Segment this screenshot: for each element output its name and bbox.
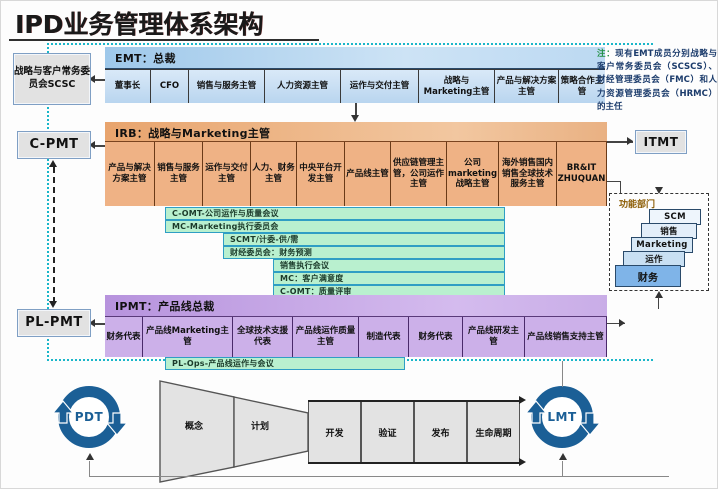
- emt-role-cell[interactable]: 人力资源主管: [265, 70, 341, 103]
- dept-card[interactable]: 财务: [615, 265, 681, 287]
- connector-irb-down-stub: [620, 181, 621, 193]
- lmt-recycle-icon: [520, 379, 606, 457]
- irb-role-cell[interactable]: BR&IT ZHUQUAN: [557, 142, 607, 206]
- lifecycle-rail-top: [308, 400, 520, 402]
- arrowhead-func-in: [655, 187, 663, 194]
- committee-bar[interactable]: C-OMT-公司运作与质量会议: [165, 207, 505, 220]
- emt-header-label: EMT：总裁: [105, 47, 605, 66]
- ipmt-role-cell[interactable]: 产品线运作质量主管: [293, 317, 359, 357]
- ipmt-role-cell[interactable]: 财务代表: [409, 317, 463, 357]
- emt-role-cell[interactable]: 董事长: [105, 70, 151, 103]
- arrowhead-rail-bottom: [519, 458, 526, 466]
- ipmt-header-label: IPMT：产品线总裁: [105, 295, 607, 314]
- ipmt-role-cell[interactable]: 财务代表: [105, 317, 143, 357]
- phase-label[interactable]: 概念: [163, 419, 225, 432]
- arrowhead-irb: [351, 115, 359, 122]
- committee-bar[interactable]: SCMT/计委-供/需: [223, 233, 505, 246]
- arrowhead-cpmt-up: [49, 160, 57, 167]
- irb-role-cell[interactable]: 产品与解决方案主管: [105, 142, 155, 206]
- ipmt-role-cell[interactable]: 产品线Marketing主管: [143, 317, 233, 357]
- ipmt-role-row: 财务代表 产品线Marketing主管 全球技术支援代表 产品线运作质量主管 制…: [105, 317, 607, 357]
- arrowhead-plpmt-down: [49, 301, 57, 308]
- c-pmt-label[interactable]: C-PMT: [17, 131, 91, 159]
- emt-role-row: 董事长 CFO 销售与服务主管 人力资源主管 运作与交付主管 战略与Market…: [105, 69, 605, 103]
- ipmt-role-cell[interactable]: 全球技术支援代表: [233, 317, 293, 357]
- phase-box[interactable]: 发布: [414, 401, 467, 463]
- feedback-right-riser: [562, 461, 563, 477]
- emt-role-cell[interactable]: 战略与Marketing主管: [419, 70, 495, 103]
- irb-role-cell[interactable]: 中央平台开发主管: [297, 142, 345, 206]
- emt-role-cell[interactable]: 运作与交付主管: [341, 70, 419, 103]
- note-text: 现有EMT成员分别战略与客户常务委员会（SCSCS）、财经管理委员会（FMC）和…: [597, 49, 717, 112]
- scsc-label[interactable]: 战略与客户常务委员会SCSC: [13, 53, 91, 105]
- arrowhead-ipmt-right: [619, 319, 625, 327]
- irb-header-label: IRB：战略与Marketing主管: [105, 122, 607, 141]
- irb-role-cell[interactable]: 供应链管理主管，公司运作主管: [391, 142, 447, 206]
- arrowhead-lmt-feedback: [559, 453, 567, 460]
- title-underline: [9, 39, 319, 41]
- arrowhead-rail-top: [519, 396, 526, 404]
- irb-role-cell[interactable]: 海外销售国内销售全球技术服务主管: [499, 142, 557, 206]
- irb-header: IRB：战略与Marketing主管: [105, 122, 607, 142]
- connector-func-down: [658, 297, 659, 309]
- itmt-label[interactable]: ITMT: [635, 130, 687, 154]
- irb-role-cell[interactable]: 公司marketing战略主管: [447, 142, 499, 206]
- diagram-canvas: IPD业务管理体系架构 EMT：总裁 董事长 CFO 销售与服务主管 人力资源主…: [0, 0, 718, 489]
- irb-role-cell[interactable]: 产品线主管: [345, 142, 391, 206]
- irb-role-cell[interactable]: 运作与交付主管: [203, 142, 251, 206]
- note-label: 注：: [597, 49, 615, 59]
- connector-irb-right-stub: [607, 181, 621, 182]
- pl-ops-committee-bar[interactable]: PL-Ops-产品线运作与会议: [165, 357, 405, 370]
- committee-bar[interactable]: 财经委员会：财务预测: [223, 246, 505, 259]
- pl-pmt-label[interactable]: PL-PMT: [17, 309, 91, 337]
- emt-role-cell[interactable]: 产品与解决方案主管: [495, 70, 559, 103]
- irb-role-cell[interactable]: 销售与服务主管: [155, 142, 203, 206]
- pdt-recycle-icon: [47, 379, 133, 457]
- emt-note: 注：现有EMT成员分别战略与客户常务委员会（SCSCS）、财经管理委员会（FMC…: [597, 48, 717, 114]
- lifecycle-rail-bottom: [308, 462, 520, 464]
- emt-role-cell[interactable]: CFO: [151, 70, 189, 103]
- feedback-left-riser: [89, 461, 90, 477]
- ipmt-role-cell[interactable]: 制造代表: [359, 317, 409, 357]
- ipmt-role-cell[interactable]: 产品线销售支持主管: [525, 317, 607, 357]
- committee-bar[interactable]: MC：客户满意度: [273, 272, 505, 285]
- phase-box[interactable]: 验证: [361, 401, 414, 463]
- arrowhead-itmt: [627, 137, 633, 145]
- irb-role-row: 产品与解决方案主管 销售与服务主管 运作与交付主管 人力、财务主管 中央平台开发…: [105, 142, 607, 206]
- phase-label[interactable]: 计划: [229, 419, 291, 432]
- emt-header: EMT：总裁: [105, 47, 605, 69]
- connector-lmt-up: [562, 361, 563, 387]
- emt-role-cell[interactable]: 销售与服务主管: [189, 70, 265, 103]
- committee-bar[interactable]: 销售执行会议: [273, 259, 505, 272]
- phase-box[interactable]: 开发: [308, 401, 361, 463]
- feedback-loop-line: [89, 476, 669, 477]
- ipmt-role-cell[interactable]: 产品线研发主管: [463, 317, 525, 357]
- phase-box[interactable]: 生命周期: [467, 401, 520, 463]
- committee-bar[interactable]: MC-Marketing执行委员会: [165, 220, 505, 233]
- irb-role-cell[interactable]: 人力、财务主管: [251, 142, 297, 206]
- ipmt-header: IPMT：产品线总裁: [105, 295, 607, 317]
- connector-cpmt-plpmt: [53, 167, 55, 303]
- page-title: IPD业务管理体系架构: [15, 5, 263, 41]
- arrowhead-pdt-feedback: [86, 453, 94, 460]
